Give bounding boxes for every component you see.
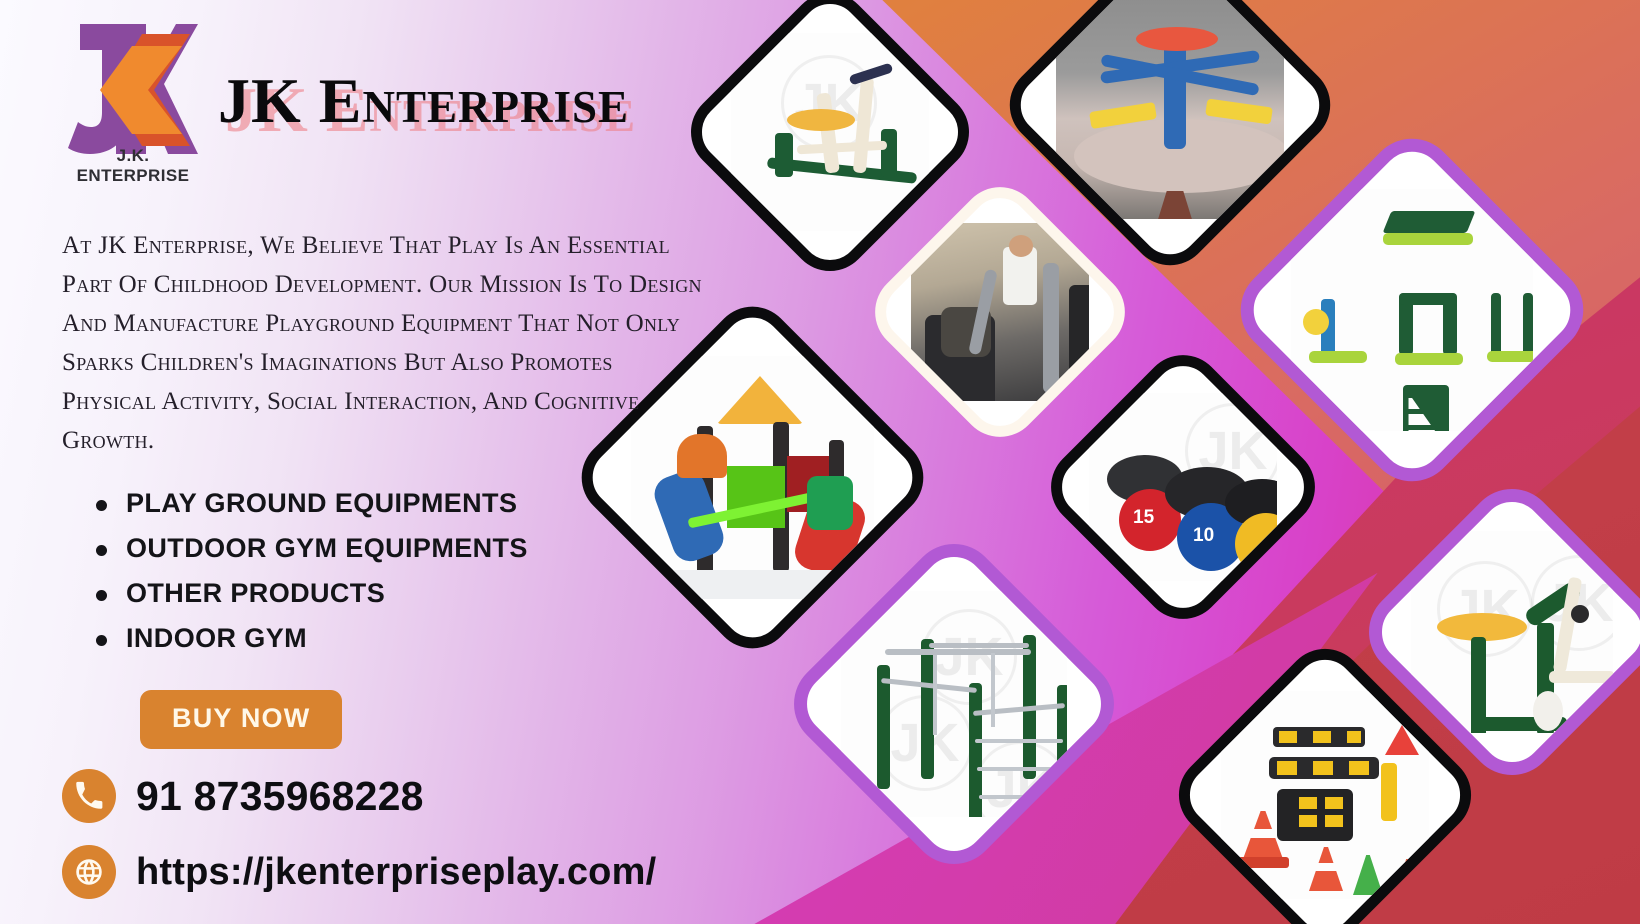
traffic-safety-products-photo <box>1221 691 1429 899</box>
outdoor-gym-collage-photo <box>1291 189 1533 431</box>
company-logo: J.K. ENTERPRISE <box>62 24 204 192</box>
product-category-list: PLAY GROUND EQUIPMENTS OUTDOOR GYM EQUIP… <box>62 488 760 654</box>
kettlebells-photo: JK 15 10 <box>1089 393 1277 581</box>
website-contact[interactable]: https://jkenterpriseplay.com/ <box>62 845 760 899</box>
website-url: https://jkenterpriseplay.com/ <box>136 851 656 894</box>
climbing-frame-photo: JK JK JK <box>841 591 1067 817</box>
brand-header: J.K. ENTERPRISE JK Enterprise <box>62 24 760 192</box>
globe-icon <box>62 845 116 899</box>
outdoor-gym-seat-machine-photo: JK JK <box>1411 531 1613 733</box>
kettlebell-weight-red: 15 <box>1133 507 1154 529</box>
list-item[interactable]: OTHER PRODUCTS <box>92 578 760 609</box>
page-title: JK Enterprise <box>218 64 629 138</box>
promotional-banner: JK <box>0 0 1640 924</box>
content-column: J.K. ENTERPRISE JK Enterprise At JK Ente… <box>0 0 760 924</box>
buy-now-button[interactable]: BUY NOW <box>140 690 342 749</box>
jk-monogram-icon <box>68 24 198 156</box>
about-paragraph: At JK Enterprise, We Believe That Play I… <box>62 226 702 460</box>
phone-icon <box>62 769 116 823</box>
outdoor-gym-rider-photo: JK <box>731 33 929 231</box>
kettlebell-weight-blue: 10 <box>1193 525 1214 547</box>
list-item[interactable]: OUTDOOR GYM EQUIPMENTS <box>92 533 760 564</box>
phone-contact[interactable]: 91 8735968228 <box>62 769 760 823</box>
merry-go-round-photo <box>1056 0 1284 219</box>
list-item[interactable]: INDOOR GYM <box>92 623 760 654</box>
phone-number: 91 8735968228 <box>136 773 424 820</box>
indoor-gym-photo <box>911 223 1089 401</box>
list-item[interactable]: PLAY GROUND EQUIPMENTS <box>92 488 760 519</box>
logo-caption: J.K. ENTERPRISE <box>62 146 204 186</box>
